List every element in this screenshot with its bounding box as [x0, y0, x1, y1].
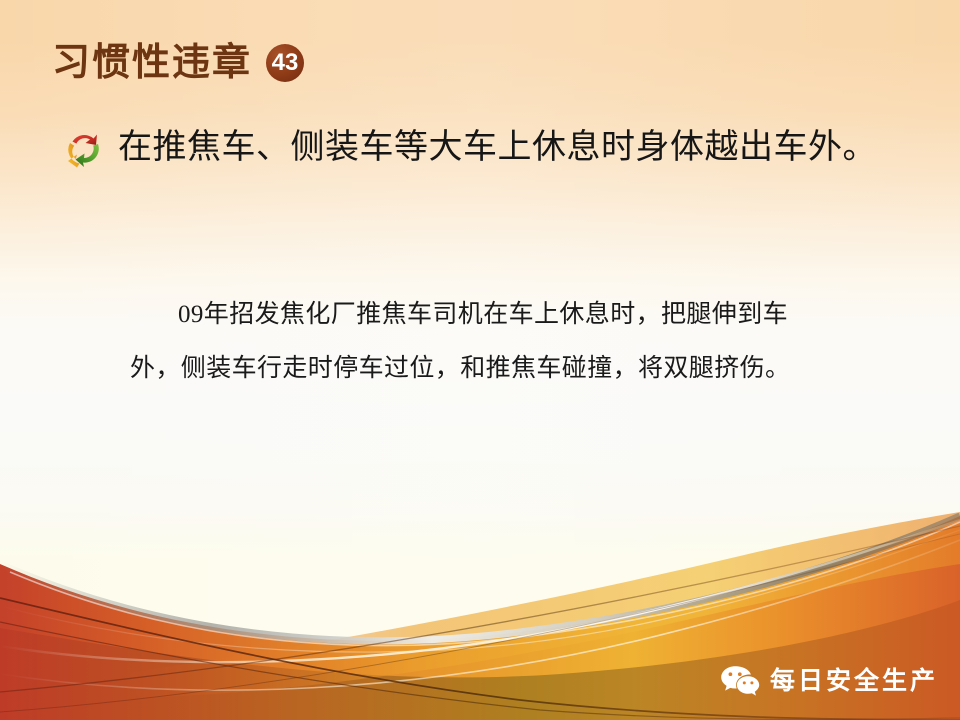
- wechat-icon: [720, 664, 760, 698]
- slide-number-badge: 43: [266, 44, 304, 82]
- body-paragraph: 09年招发焦化厂推焦车司机在车上休息时，把腿伸到车 外，侧装车行走时停车过位，和…: [130, 288, 830, 396]
- bullet-heading-row: 在推焦车、侧装车等大车上休息时身体越出车外。: [64, 128, 944, 168]
- recycle-arrows-icon: [64, 128, 104, 168]
- watermark: 每日安全生产: [720, 664, 938, 698]
- slide-canvas: 习惯性违章 43: [0, 0, 960, 720]
- body-line-1: 09年招发焦化厂推焦车司机在车上休息时，把腿伸到车: [130, 288, 830, 342]
- slide-title-row: 习惯性违章 43: [52, 44, 304, 82]
- page-title: 习惯性违章: [52, 44, 252, 82]
- body-line-2: 外，侧装车行走时停车过位，和推焦车碰撞，将双腿挤伤。: [130, 342, 830, 396]
- watermark-text: 每日安全生产: [770, 669, 938, 694]
- bullet-heading-text: 在推焦车、侧装车等大车上休息时身体越出车外。: [118, 129, 877, 167]
